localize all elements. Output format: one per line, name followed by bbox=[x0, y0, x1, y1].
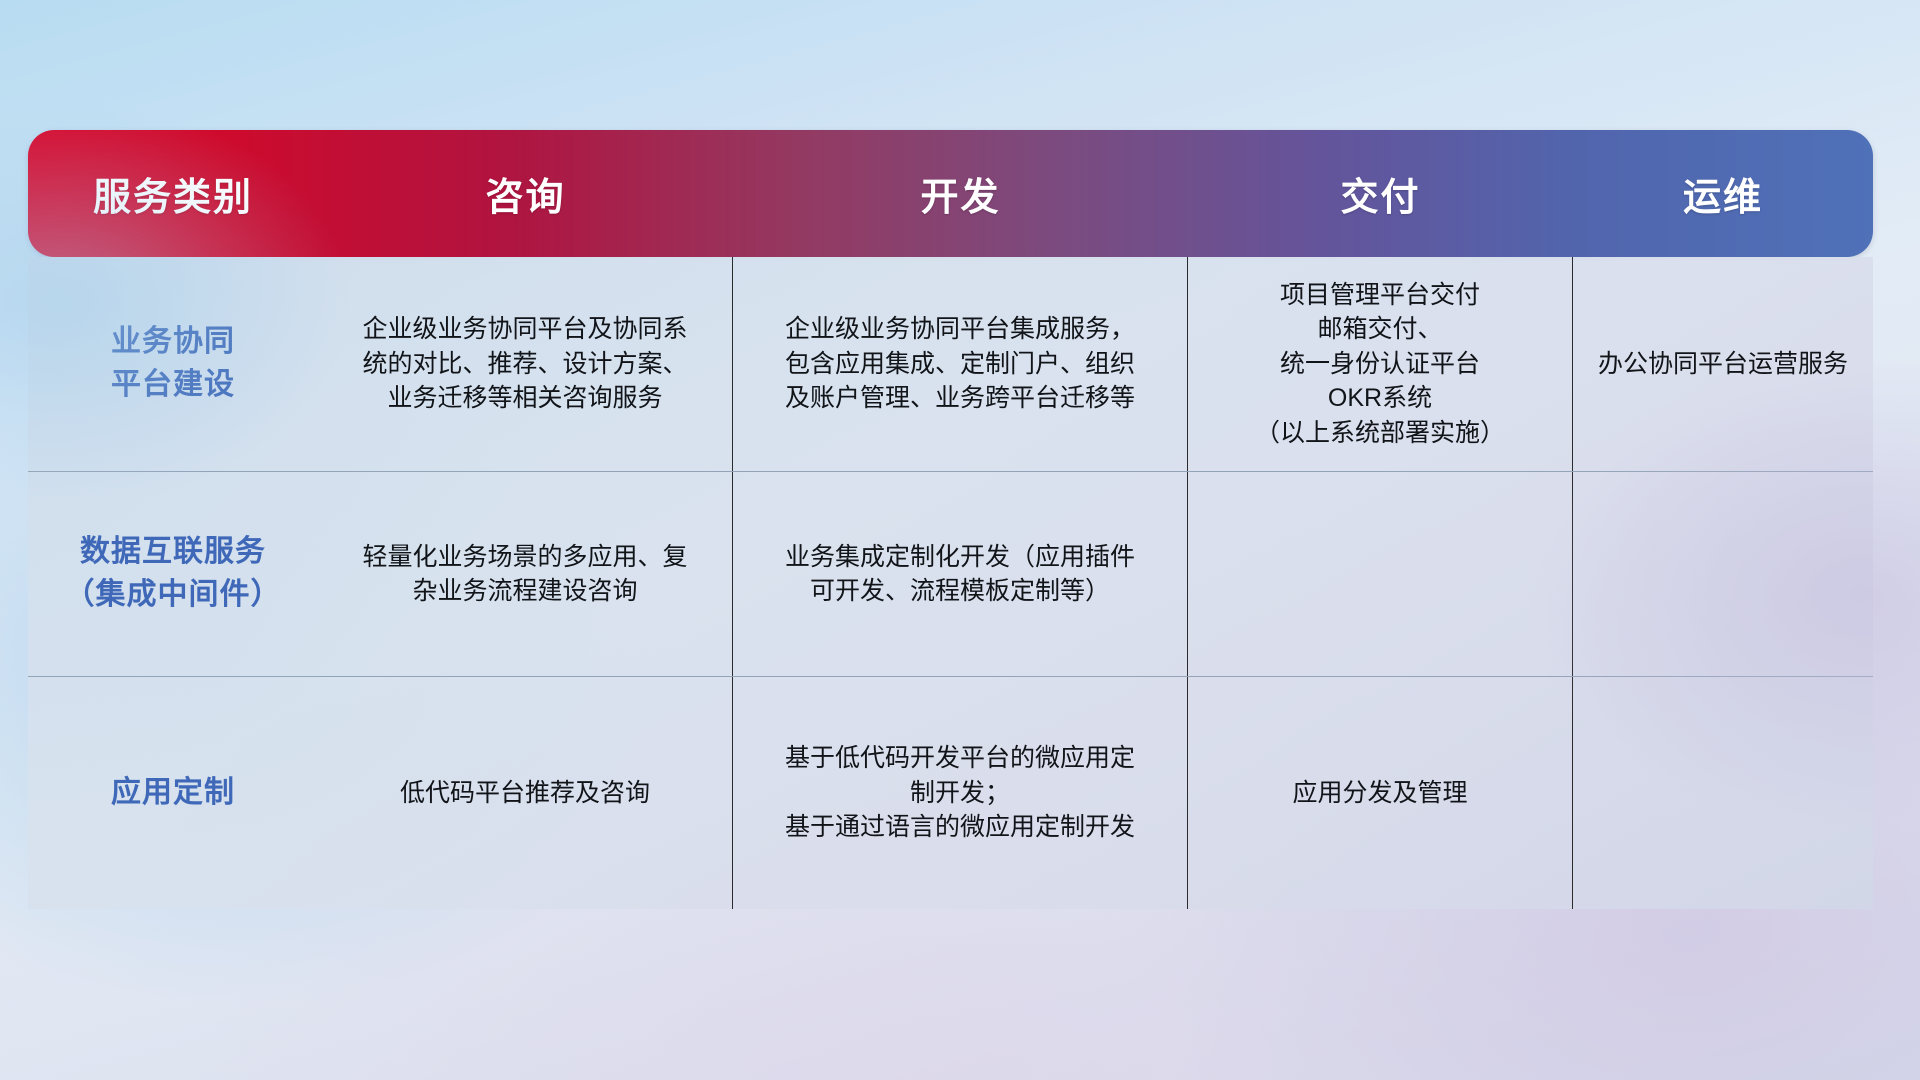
column-header-consulting: 咨询 bbox=[318, 130, 733, 257]
cell-development-row2: 业务集成定制化开发（应用插件 可开发、流程模板定制等） bbox=[733, 472, 1188, 676]
cell-category-row3: 应用定制 bbox=[28, 677, 318, 909]
cell-development-row1: 企业级业务协同平台集成服务， 包含应用集成、定制门户、组织 及账户管理、业务跨平… bbox=[733, 257, 1188, 471]
cell-development-row3: 基于低代码开发平台的微应用定 制开发； 基于通过语言的微应用定制开发 bbox=[733, 677, 1188, 909]
cell-consulting-row1: 企业级业务协同平台及协同系 统的对比、推荐、设计方案、 业务迁移等相关咨询服务 bbox=[318, 257, 733, 471]
cell-category-row2: 数据互联服务 （集成中间件） bbox=[28, 472, 318, 676]
cell-operations-row3 bbox=[1573, 677, 1873, 909]
cell-consulting-row2: 轻量化业务场景的多应用、复 杂业务流程建设咨询 bbox=[318, 472, 733, 676]
cell-operations-row2 bbox=[1573, 472, 1873, 676]
cell-category-row1: 业务协同 平台建设 bbox=[28, 257, 318, 471]
cell-operations-row1: 办公协同平台运营服务 bbox=[1573, 257, 1873, 471]
slide-canvas: 服务类别 咨询 开发 交付 运维 业务协同 平台建设 企业级业务协同平台及协同系… bbox=[0, 0, 1920, 1080]
service-matrix-table: 服务类别 咨询 开发 交付 运维 业务协同 平台建设 企业级业务协同平台及协同系… bbox=[28, 130, 1873, 909]
cell-delivery-row3: 应用分发及管理 bbox=[1188, 677, 1573, 909]
cell-consulting-row3: 低代码平台推荐及咨询 bbox=[318, 677, 733, 909]
cell-delivery-row2 bbox=[1188, 472, 1573, 676]
column-header-development: 开发 bbox=[733, 130, 1188, 257]
column-header-delivery: 交付 bbox=[1188, 130, 1573, 257]
table-row: 业务协同 平台建设 企业级业务协同平台及协同系 统的对比、推荐、设计方案、 业务… bbox=[28, 257, 1873, 472]
column-header-operations: 运维 bbox=[1573, 130, 1873, 257]
cell-delivery-row1: 项目管理平台交付 邮箱交付、 统一身份认证平台 OKR系统 （以上系统部署实施） bbox=[1188, 257, 1573, 471]
table-row: 数据互联服务 （集成中间件） 轻量化业务场景的多应用、复 杂业务流程建设咨询 业… bbox=[28, 472, 1873, 677]
table-row: 应用定制 低代码平台推荐及咨询 基于低代码开发平台的微应用定 制开发； 基于通过… bbox=[28, 677, 1873, 909]
table-body: 业务协同 平台建设 企业级业务协同平台及协同系 统的对比、推荐、设计方案、 业务… bbox=[28, 257, 1873, 909]
column-header-category: 服务类别 bbox=[28, 130, 318, 257]
table-header-row: 服务类别 咨询 开发 交付 运维 bbox=[28, 130, 1873, 257]
